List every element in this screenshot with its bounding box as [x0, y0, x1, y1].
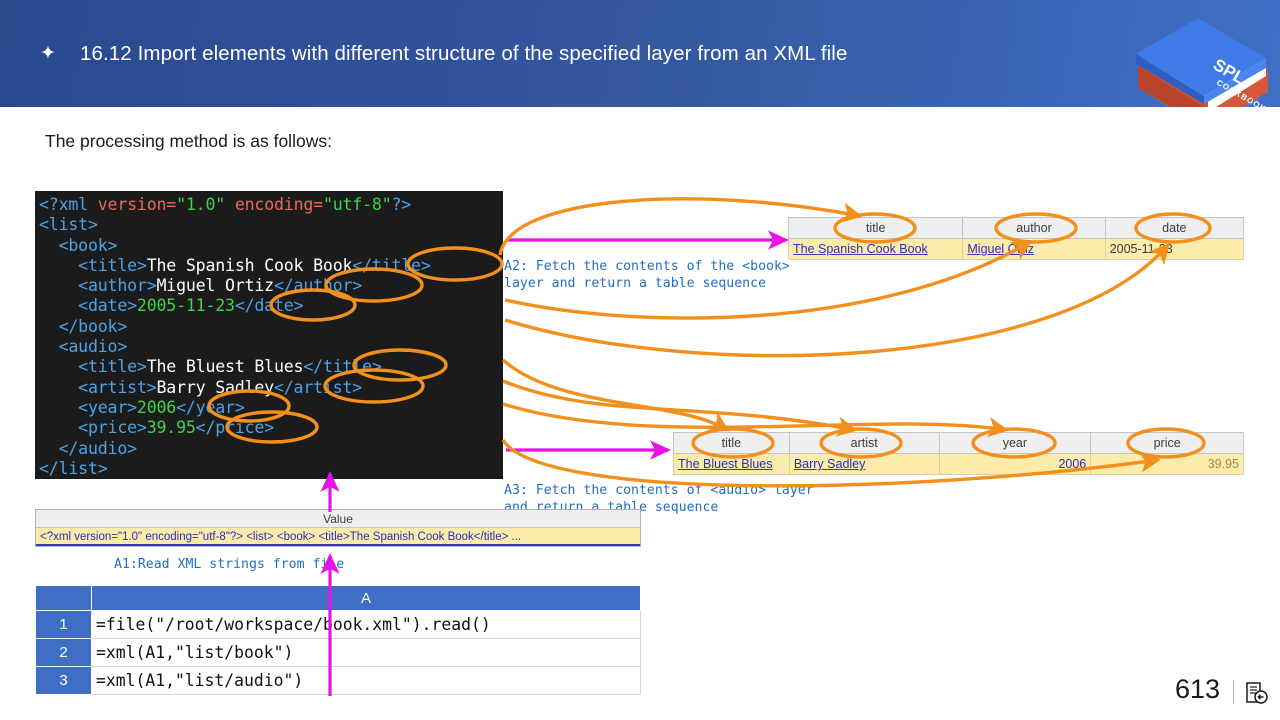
xml-token: The Spanish Cook Book	[147, 256, 353, 275]
column-header-date[interactable]: date	[1105, 218, 1243, 239]
xml-token: <title>	[39, 256, 147, 275]
document-back-icon[interactable]	[1245, 681, 1269, 710]
table-header-row: title artist year price	[674, 433, 1244, 454]
value-inspector: Value <?xml version="1.0" encoding="utf-…	[35, 509, 641, 547]
column-header-title[interactable]: title	[789, 218, 963, 239]
sheet-row[interactable]: 1=file("/root/workspace/book.xml").read(…	[36, 611, 641, 639]
value-cell[interactable]: <?xml version="1.0" encoding="utf-8"?> <…	[36, 528, 640, 546]
diamond-star-icon: ✦	[38, 44, 58, 64]
xml-token: </price>	[196, 418, 274, 437]
column-header-title[interactable]: title	[674, 433, 790, 454]
curve-atitle-to-col-title	[503, 360, 727, 430]
xml-token: </date>	[235, 296, 304, 315]
xml-token: </title>	[303, 357, 381, 376]
cell-title[interactable]: The Bluest Blues	[674, 454, 790, 475]
cell-author[interactable]: Miguel Ortiz	[963, 239, 1105, 260]
xml-token: </artist>	[274, 378, 362, 397]
table-row[interactable]: The Bluest Blues Barry Sadley 2006 39.95	[674, 454, 1244, 475]
table-row[interactable]: The Spanish Cook Book Miguel Ortiz 2005-…	[789, 239, 1244, 260]
sheet-corner-cell[interactable]	[36, 586, 92, 611]
xml-token: encoding=	[235, 195, 323, 214]
sheet-cell-a2[interactable]: =xml(A1,"list/book")	[92, 639, 641, 667]
page-number: 613	[1175, 674, 1220, 705]
xml-token: </title>	[352, 256, 430, 275]
xml-token: <year>	[39, 398, 137, 417]
cell-artist[interactable]: Barry Sadley	[789, 454, 939, 475]
xml-source-code: <?xml version="1.0" encoding="utf-8"?> <…	[35, 191, 503, 479]
sheet-row-number[interactable]: 3	[36, 667, 92, 695]
xml-token: version=	[98, 195, 176, 214]
xml-token: <title>	[39, 357, 147, 376]
subtitle-text: The processing method is as follows:	[45, 131, 332, 152]
slide-header: ✦ 16.12 Import elements with different s…	[0, 0, 1280, 107]
cell-title[interactable]: The Spanish Cook Book	[789, 239, 963, 260]
curve-artist-to-col-artist	[503, 381, 855, 430]
xml-token: "1.0"	[176, 195, 225, 214]
xml-token: 2005-11-23	[137, 296, 235, 315]
xml-token	[225, 195, 235, 214]
xml-token: </list>	[39, 459, 108, 478]
xml-token: <author>	[39, 276, 156, 295]
sheet-row-number[interactable]: 2	[36, 639, 92, 667]
xml-token: 2006	[137, 398, 176, 417]
annotation-a2: A2: Fetch the contents of the <book> lay…	[504, 258, 790, 292]
sheet-column-header-a[interactable]: A	[92, 586, 641, 611]
spl-cookbook-logo: SPL COOKBOOK	[1108, 14, 1280, 107]
xml-token: ?>	[392, 195, 412, 214]
column-header-price[interactable]: price	[1091, 433, 1244, 454]
xml-token: 39.95	[147, 418, 196, 437]
column-header-author[interactable]: author	[963, 218, 1105, 239]
table-header-row: title author date	[789, 218, 1244, 239]
sheet-row[interactable]: 3=xml(A1,"list/audio")	[36, 667, 641, 695]
xml-token: </year>	[176, 398, 245, 417]
cell-year[interactable]: 2006	[939, 454, 1091, 475]
xml-token: "utf-8"	[323, 195, 392, 214]
audio-result-table: title artist year price The Bluest Blues…	[673, 432, 1244, 475]
sheet-row[interactable]: 2=xml(A1,"list/book")	[36, 639, 641, 667]
column-header-artist[interactable]: artist	[789, 433, 939, 454]
value-column-header: Value	[36, 510, 640, 528]
sheet-cell-a1[interactable]: =file("/root/workspace/book.xml").read()	[92, 611, 641, 639]
xml-token: <price>	[39, 418, 147, 437]
footer-divider	[1233, 680, 1234, 704]
xml-token: Barry Sadley	[156, 378, 273, 397]
sheet-cell-a3[interactable]: =xml(A1,"list/audio")	[92, 667, 641, 695]
cell-price[interactable]: 39.95	[1091, 454, 1244, 475]
curve-year-to-col-year	[503, 404, 1006, 430]
xml-token: <book>	[39, 236, 117, 255]
sheet-row-number[interactable]: 1	[36, 611, 92, 639]
page-title: 16.12 Import elements with different str…	[80, 42, 847, 66]
xml-token: <list>	[39, 215, 98, 234]
xml-token: Miguel Ortiz	[156, 276, 273, 295]
xml-token: <date>	[39, 296, 137, 315]
xml-token: <?xml	[39, 195, 98, 214]
column-header-year[interactable]: year	[939, 433, 1091, 454]
spl-spreadsheet: A 1=file("/root/workspace/book.xml").rea…	[35, 585, 641, 695]
book-result-table: title author date The Spanish Cook Book …	[788, 217, 1244, 260]
xml-token: The Bluest Blues	[147, 357, 304, 376]
cell-date[interactable]: 2005-11-23	[1105, 239, 1243, 260]
annotation-a1: A1:Read XML strings from file	[114, 556, 344, 573]
xml-token: <artist>	[39, 378, 156, 397]
xml-token: </author>	[274, 276, 362, 295]
xml-token: </book>	[39, 317, 127, 336]
xml-token: <audio>	[39, 337, 127, 356]
sheet-header-row: A	[36, 586, 641, 611]
xml-token: </audio>	[39, 439, 137, 458]
